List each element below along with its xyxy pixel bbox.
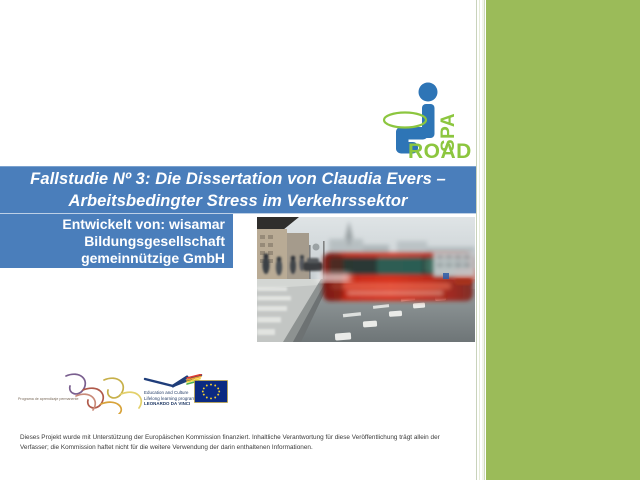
slide-title-line-1: Fallstudie Nº 3: Die Dissertation von Cl…: [30, 168, 446, 190]
programme-label: Programa de aprendizaje permanente: [18, 397, 79, 402]
presentation-slide: ROAD SPA Fallstudie Nº 3: Die Dissertati…: [0, 0, 640, 480]
european-union-flag: [194, 380, 228, 403]
slide-title-line-2: Arbeitsbedingter Stress im Verkehrssekto…: [68, 190, 407, 212]
subtitle-line-1: Entwickelt von: wisamar: [62, 216, 225, 233]
sidebar-divider-line-4: [484, 0, 485, 480]
slide-title-banner: Fallstudie Nº 3: Die Dissertation von Cl…: [0, 166, 476, 214]
subtitle-line-3: gemeinnützige GmbH: [81, 250, 225, 267]
sidebar-divider-line-1: [476, 0, 477, 480]
slide-subtitle-box: Entwickelt von: wisamar Bildungsgesellsc…: [0, 214, 233, 268]
footer-line-1: Dieses Projekt wurde mit Unterstützung d…: [20, 433, 472, 443]
sidebar-divider-line-2: [479, 0, 480, 480]
footer-disclaimer: Dieses Projekt wurde mit Unterstützung d…: [20, 433, 472, 452]
footer-line-2: Verfasser; die Kommission haftet nicht f…: [20, 443, 472, 453]
bus-street-photo: [257, 217, 475, 342]
subtitle-line-2: Bildungsgesellschaft: [84, 233, 225, 250]
svg-text:SPA: SPA: [438, 113, 459, 152]
green-sidebar: [486, 0, 640, 480]
road-spa-logo: ROAD SPA: [378, 78, 474, 164]
